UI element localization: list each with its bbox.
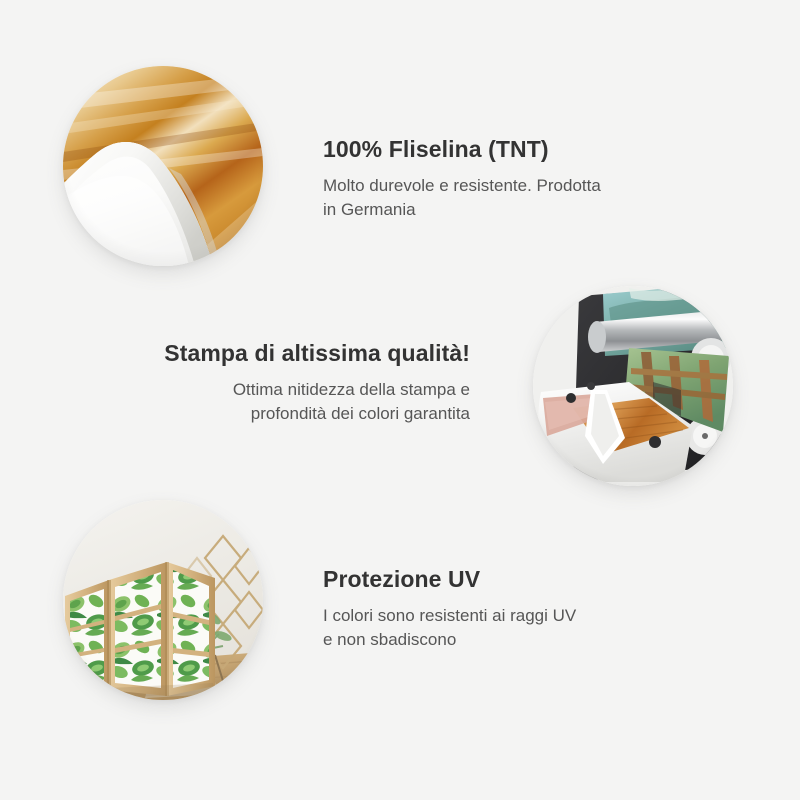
feature-description-uv: I colori sono resistenti ai raggi UV e n… xyxy=(323,604,663,652)
feature-title-uv: Protezione UV xyxy=(323,565,663,594)
feature-description-line-2: e non sbadiscono xyxy=(323,628,663,652)
feature-highlights-panel: 100% Fliselina (TNT) Molto durevole e re… xyxy=(0,0,800,800)
feature-description-stampa: Ottima nitidezza della stampa e profondi… xyxy=(140,378,470,426)
feature-description-line-2: profondità dei colori garantita xyxy=(140,402,470,426)
wallpaper-peeled-corner-photo xyxy=(63,66,263,266)
feature-description-line-2: in Germania xyxy=(323,198,663,222)
wallpaper-peeled-corner-illustration xyxy=(63,66,263,266)
tropical-room-divider-photo xyxy=(63,500,263,700)
feature-text-uv: Protezione UV I colori sono resistenti a… xyxy=(323,565,663,652)
feature-description-line-1: Molto durevole e resistente. Prodotta xyxy=(323,174,663,198)
printing-machine-roller-photo xyxy=(533,286,733,486)
feature-description-line-1: Ottima nitidezza della stampa e xyxy=(140,378,470,402)
feature-description-fliselina: Molto durevole e resistente. Prodotta in… xyxy=(323,174,663,222)
feature-title-fliselina: 100% Fliselina (TNT) xyxy=(323,135,663,164)
feature-text-fliselina: 100% Fliselina (TNT) Molto durevole e re… xyxy=(323,135,663,222)
tropical-room-divider-illustration xyxy=(63,500,263,700)
feature-title-stampa: Stampa di altissima qualità! xyxy=(140,339,470,368)
feature-text-stampa: Stampa di altissima qualità! Ottima niti… xyxy=(140,339,470,426)
feature-description-line-1: I colori sono resistenti ai raggi UV xyxy=(323,604,663,628)
printing-machine-illustration xyxy=(533,286,733,486)
